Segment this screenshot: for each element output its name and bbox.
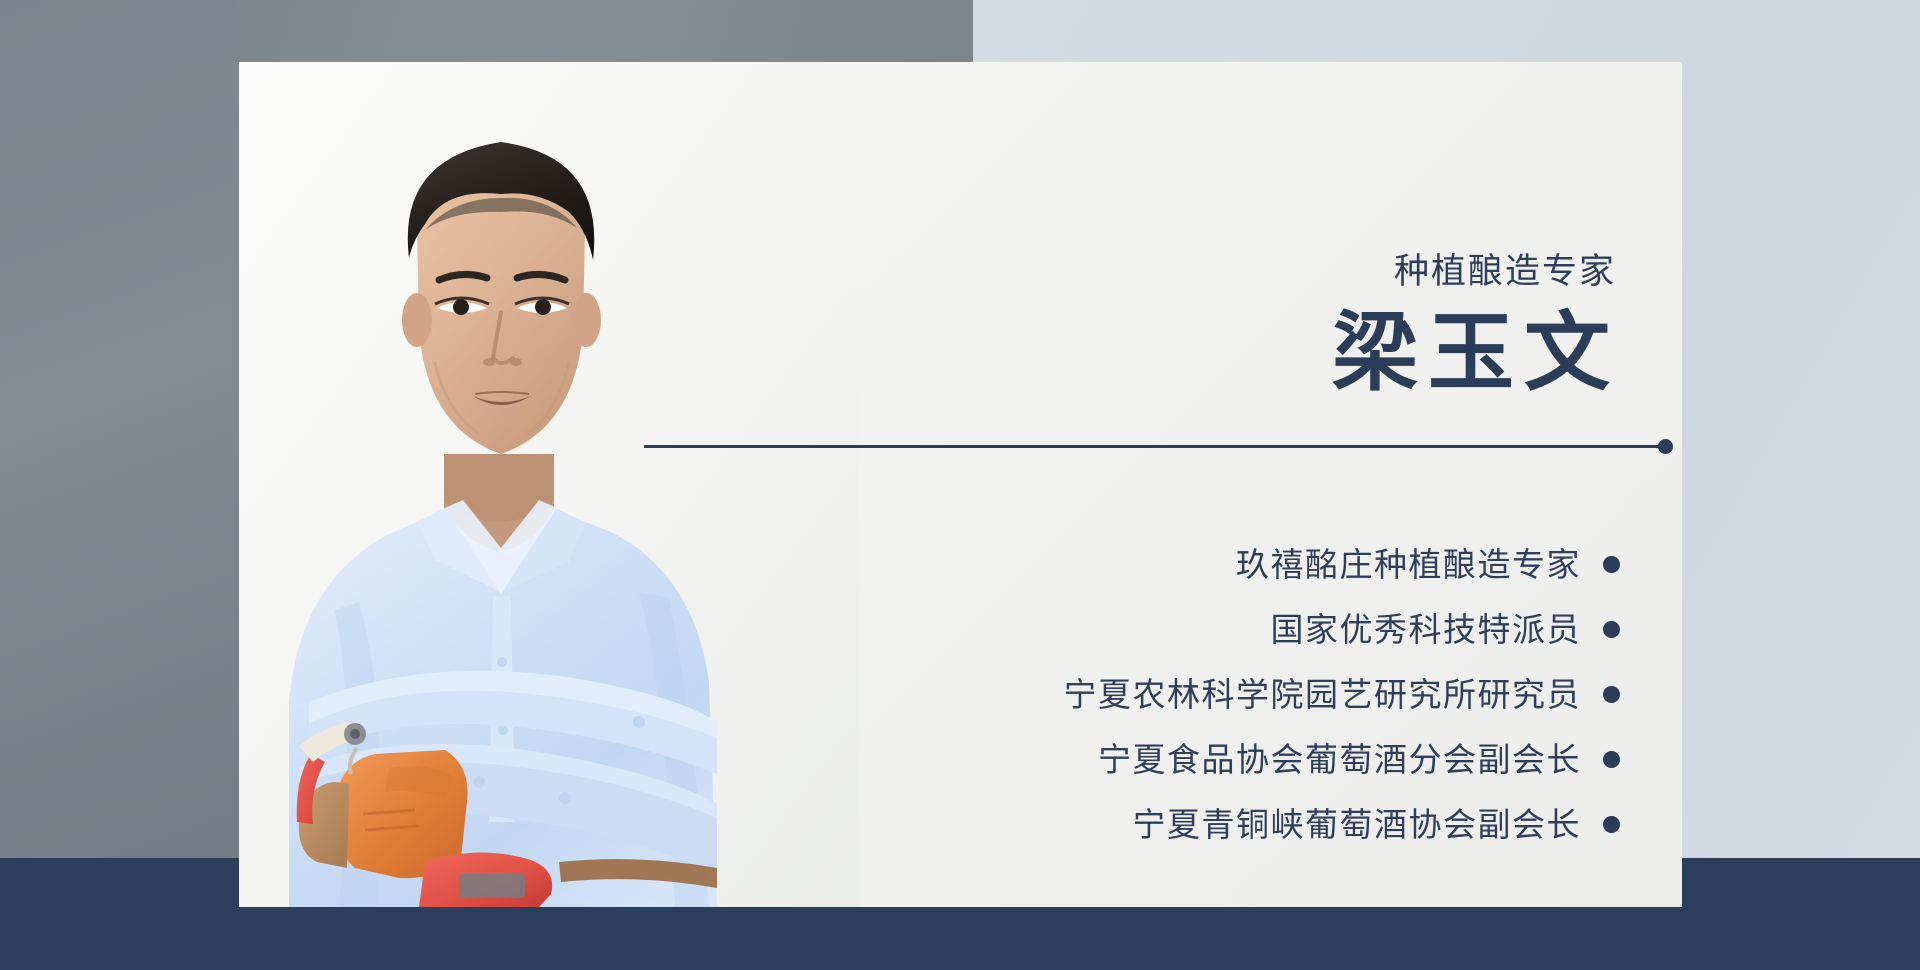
- divider-end-dot: [1658, 439, 1673, 454]
- credential-label: 宁夏青铜峡葡萄酒协会副会长: [1133, 808, 1582, 841]
- background-block-gray-left: [0, 0, 239, 858]
- credential-label: 国家优秀科技特派员: [1271, 613, 1582, 646]
- portrait-illustration: [239, 62, 859, 907]
- credential-list: 玖禧酩庄种植酿造专家 国家优秀科技特派员 宁夏农林科学院园艺研究所研究员 宁夏食…: [1064, 532, 1621, 857]
- poster-stage: 种植酿造专家 梁玉文 玖禧酩庄种植酿造专家 国家优秀科技特派员 宁夏农林科学院园…: [0, 0, 1920, 970]
- expert-name: 梁玉文: [1332, 310, 1620, 396]
- credential-item: 宁夏青铜峡葡萄酒协会副会长: [1064, 792, 1621, 857]
- credential-item: 玖禧酩庄种植酿造专家: [1064, 532, 1621, 597]
- credential-item: 宁夏农林科学院园艺研究所研究员: [1064, 662, 1621, 727]
- credential-item: 宁夏食品协会葡萄酒分会副会长: [1064, 727, 1621, 792]
- bullet-dot-icon: [1603, 816, 1620, 833]
- portrait-photo: [239, 62, 859, 907]
- bullet-dot-icon: [1603, 686, 1620, 703]
- credential-item: 国家优秀科技特派员: [1064, 597, 1621, 662]
- bullet-dot-icon: [1603, 751, 1620, 768]
- credential-label: 宁夏农林科学院园艺研究所研究员: [1064, 678, 1582, 711]
- bullet-dot-icon: [1603, 621, 1620, 638]
- credential-label: 宁夏食品协会葡萄酒分会副会长: [1098, 743, 1581, 776]
- bullet-dot-icon: [1603, 556, 1620, 573]
- credential-label: 玖禧酩庄种植酿造专家: [1236, 548, 1581, 581]
- expert-subtitle: 种植酿造专家: [1394, 254, 1616, 289]
- divider-rule: [644, 445, 1666, 448]
- profile-card: 种植酿造专家 梁玉文 玖禧酩庄种植酿造专家 国家优秀科技特派员 宁夏农林科学院园…: [239, 62, 1682, 907]
